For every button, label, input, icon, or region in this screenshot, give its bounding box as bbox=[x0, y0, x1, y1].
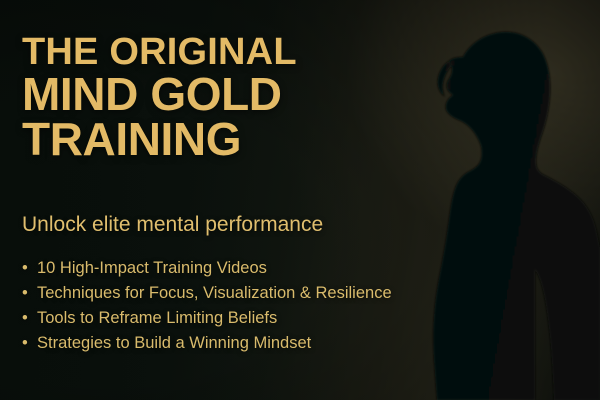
list-item: •Techniques for Focus, Visualization & R… bbox=[22, 281, 392, 306]
bullet-icon: • bbox=[22, 331, 37, 356]
page-title: THE ORIGINAL MIND GOLD TRAINING bbox=[22, 34, 297, 163]
list-item: •Tools to Reframe Limiting Beliefs bbox=[22, 306, 392, 331]
headline-line-1: THE ORIGINAL bbox=[22, 34, 297, 72]
list-item: •10 High-Impact Training Videos bbox=[22, 256, 392, 281]
poster-content: THE ORIGINAL MIND GOLD TRAINING Unlock e… bbox=[22, 0, 452, 400]
headline-line-3: TRAINING bbox=[22, 117, 297, 163]
feature-list: •10 High-Impact Training Videos •Techniq… bbox=[22, 256, 392, 356]
list-item-label: Techniques for Focus, Visualization & Re… bbox=[37, 284, 392, 302]
list-item: •Strategies to Build a Winning Mindset bbox=[22, 331, 392, 356]
bullet-icon: • bbox=[22, 281, 37, 306]
bullet-icon: • bbox=[22, 256, 37, 281]
list-item-label: Tools to Reframe Limiting Beliefs bbox=[37, 309, 277, 327]
list-item-label: 10 High-Impact Training Videos bbox=[37, 259, 267, 277]
promo-poster: THE ORIGINAL MIND GOLD TRAINING Unlock e… bbox=[0, 0, 600, 400]
headline-line-2: MIND GOLD bbox=[22, 72, 297, 118]
subtitle: Unlock elite mental performance bbox=[22, 213, 323, 237]
bullet-icon: • bbox=[22, 306, 37, 331]
list-item-label: Strategies to Build a Winning Mindset bbox=[37, 334, 311, 352]
